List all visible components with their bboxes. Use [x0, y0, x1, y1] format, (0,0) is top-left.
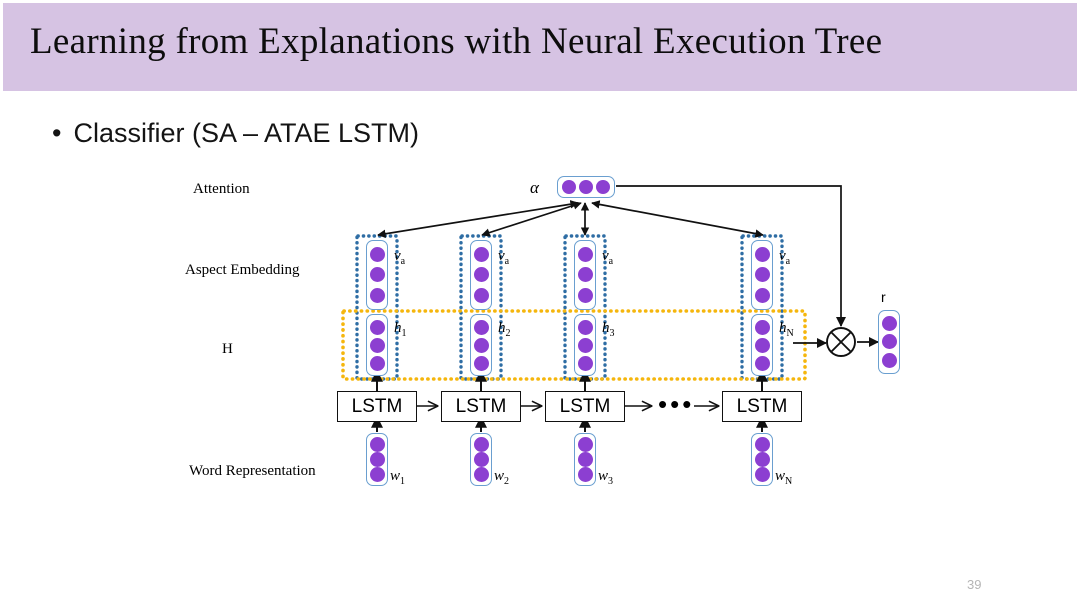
vector-cell [474, 288, 489, 303]
vector-cell [578, 437, 593, 452]
vector-cell [755, 288, 770, 303]
attention-weight-node[interactable] [557, 176, 615, 198]
vector-cell [370, 288, 385, 303]
vector-cell [562, 180, 576, 194]
vector-cell [578, 452, 593, 467]
aspect-group-dashed-boxes [357, 236, 782, 379]
vector-cell [578, 267, 593, 282]
lstm-chain-ellipsis: ••• [658, 391, 694, 417]
vector-cell [474, 338, 489, 353]
vector-cell [578, 247, 593, 262]
vector-cell [578, 356, 593, 371]
word-label-3: w3 [598, 468, 613, 487]
lstm-cell-1[interactable]: LSTM [337, 391, 417, 422]
vector-cell [474, 437, 489, 452]
vector-cell [596, 180, 610, 194]
vector-cell [882, 316, 897, 331]
vector-cell [882, 353, 897, 368]
vector-cell [578, 320, 593, 335]
vector-cell [370, 356, 385, 371]
aspect-embedding-vector-3[interactable] [574, 240, 596, 310]
vector-cell [474, 247, 489, 262]
hidden-state-vector-1[interactable] [366, 314, 388, 376]
aspect-vector-label-1: va [394, 248, 405, 267]
row-label-word-representation: Word Representation [189, 463, 316, 480]
diagram-connectors [0, 0, 1080, 608]
hidden-state-label-3: h3 [602, 320, 615, 339]
vector-cell [579, 180, 593, 194]
lstm-cell-n[interactable]: LSTM [722, 391, 802, 422]
lstm-to-hidden-edges [377, 371, 762, 392]
elementwise-product-operator [827, 328, 855, 356]
hidden-state-label-2: h2 [498, 320, 511, 339]
slide: Learning from Explanations with Neural E… [0, 0, 1080, 608]
hidden-state-vector-n[interactable] [751, 314, 773, 376]
hidden-state-vector-2[interactable] [470, 314, 492, 376]
atae-lstm-diagram: Attention Aspect Embedding H Word Repres… [0, 0, 1080, 608]
vector-cell [474, 267, 489, 282]
alpha-to-product-edge [616, 186, 841, 326]
word-representation-vector-2[interactable] [470, 433, 492, 486]
vector-cell [755, 338, 770, 353]
word-representation-vector-1[interactable] [366, 433, 388, 486]
lstm-cell-3[interactable]: LSTM [545, 391, 625, 422]
output-representation-vector[interactable] [878, 310, 900, 374]
aspect-embedding-vector-2[interactable] [470, 240, 492, 310]
vector-cell [370, 467, 385, 482]
hidden-state-label-n: hN [779, 320, 794, 339]
vector-cell [882, 334, 897, 349]
word-label-1: w1 [390, 468, 405, 487]
vector-cell [370, 452, 385, 467]
vector-cell [474, 356, 489, 371]
aspect-vector-label-n: va [779, 248, 790, 267]
row-label-attention: Attention [193, 181, 250, 198]
word-representation-vector-n[interactable] [751, 433, 773, 486]
vector-cell [755, 467, 770, 482]
vector-cell [370, 247, 385, 262]
vector-cell [370, 267, 385, 282]
attention-edges [378, 203, 763, 235]
row-label-aspect-embedding: Aspect Embedding [185, 262, 300, 279]
alpha-label: α [530, 178, 539, 198]
hidden-state-label-1: h1 [394, 320, 407, 339]
vector-cell [578, 338, 593, 353]
aspect-vector-label-2: va [498, 248, 509, 267]
output-vector-label: r [881, 289, 886, 305]
word-label-2: w2 [494, 468, 509, 487]
aspect-embedding-vector-n[interactable] [751, 240, 773, 310]
vector-cell [578, 467, 593, 482]
vector-cell [578, 288, 593, 303]
vector-cell [474, 467, 489, 482]
hidden-state-vector-3[interactable] [574, 314, 596, 376]
vector-cell [474, 452, 489, 467]
vector-cell [370, 338, 385, 353]
vector-cell [755, 437, 770, 452]
row-label-h: H [222, 341, 233, 358]
vector-cell [474, 320, 489, 335]
aspect-vector-label-3: va [602, 248, 613, 267]
vector-cell [370, 320, 385, 335]
lstm-cell-2[interactable]: LSTM [441, 391, 521, 422]
vector-cell [755, 247, 770, 262]
aspect-embedding-vector-1[interactable] [366, 240, 388, 310]
vector-cell [755, 356, 770, 371]
vector-cell [755, 452, 770, 467]
page-number: 39 [967, 577, 981, 592]
vector-cell [755, 267, 770, 282]
vector-cell [370, 437, 385, 452]
word-representation-vector-3[interactable] [574, 433, 596, 486]
word-label-n: wN [775, 468, 792, 487]
vector-cell [755, 320, 770, 335]
